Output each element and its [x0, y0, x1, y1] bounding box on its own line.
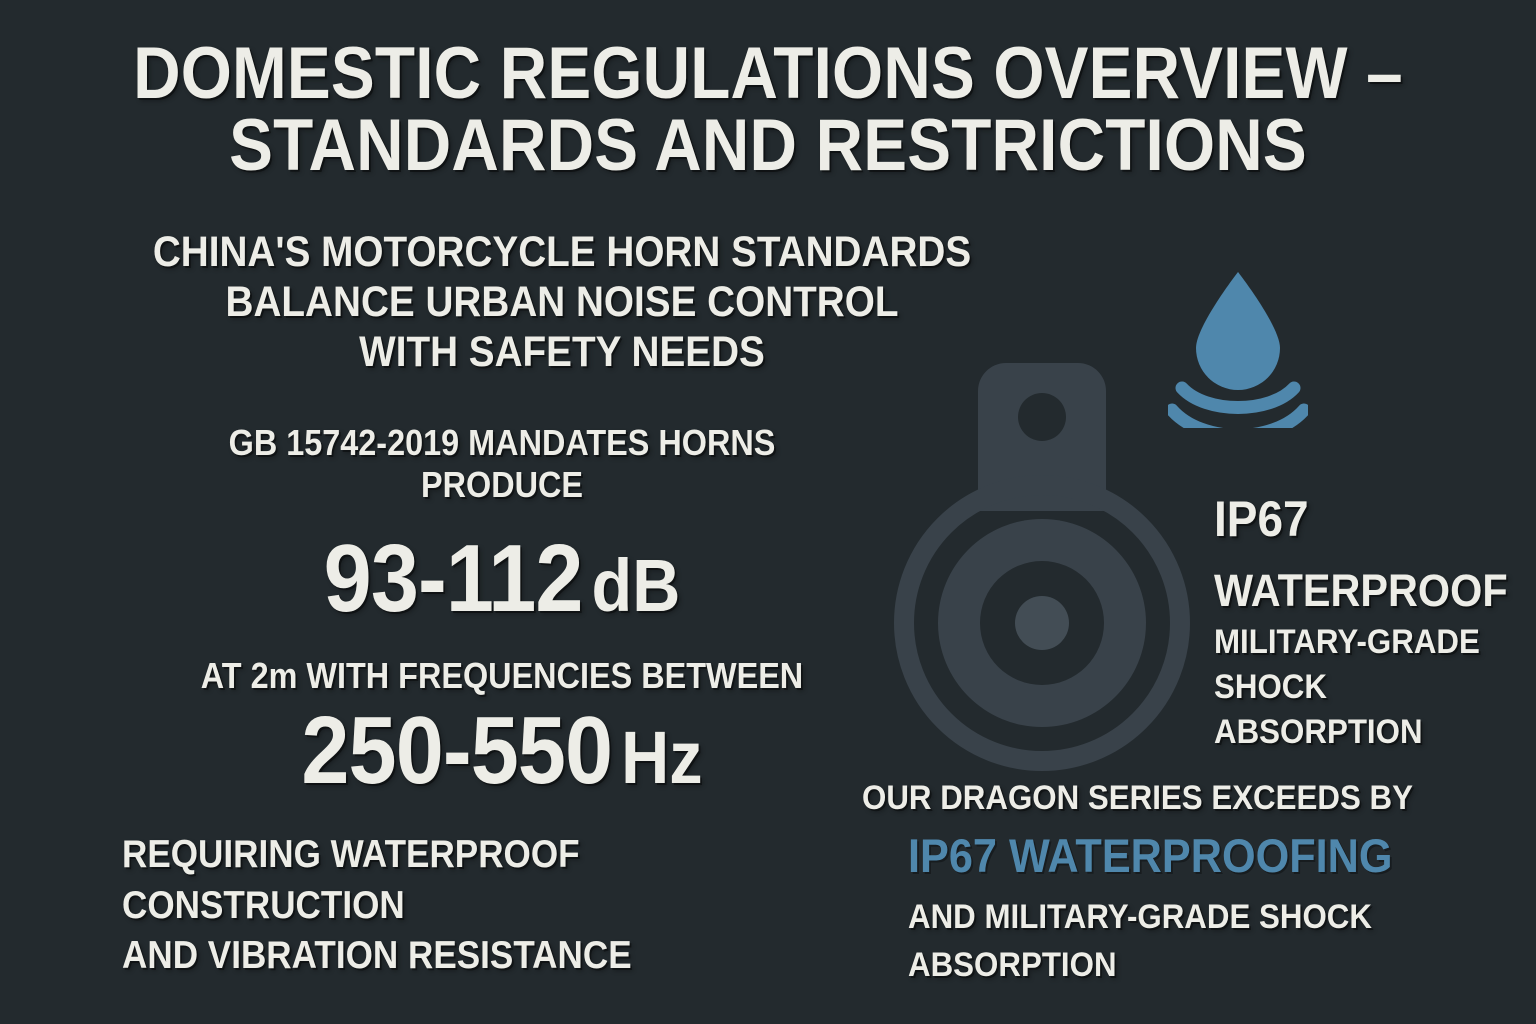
frequency-stat: 250-550Hz: [106, 703, 898, 799]
water-drop-ripple-icon: [1168, 268, 1308, 428]
infographic-canvas: DOMESTIC REGULATIONS OVERVIEW – STANDARD…: [0, 0, 1536, 1024]
page-title: DOMESTIC REGULATIONS OVERVIEW – STANDARD…: [77, 38, 1459, 183]
sound-level-value: 93-112: [324, 525, 583, 632]
shock-rating-text: MILITARY-GRADE SHOCK ABSORPTION: [1214, 620, 1518, 756]
product-claim-intro: OUR DRAGON SERIES EXCEEDS BY: [862, 778, 1451, 819]
measurement-condition: AT 2m WITH FREQUENCIES BETWEEN: [106, 655, 898, 696]
lead-statement: CHINA'S MOTORCYCLE HORN STANDARDS BALANC…: [112, 228, 1012, 378]
ip-rating-block: IP67 WATERPROOF: [1214, 478, 1508, 630]
motorcycle-horn-watermark: [878, 345, 1218, 775]
horn-icon: [878, 345, 1218, 775]
ip-rating-label: WATERPROOF: [1214, 568, 1508, 614]
frequency-value: 250-550: [301, 697, 612, 804]
sound-level-unit: dB: [592, 544, 681, 627]
product-claim-highlight: IP67 WATERPROOFING: [908, 830, 1478, 882]
product-claim-tail: AND MILITARY-GRADE SHOCK ABSORPTION: [908, 893, 1423, 990]
waterproof-drop-icon: [1168, 268, 1308, 428]
frequency-unit: Hz: [621, 716, 702, 799]
sound-level-stat: 93-112dB: [106, 531, 898, 627]
ip-rating-code: IP67: [1214, 494, 1508, 545]
regulation-intro: GB 15742-2019 MANDATES HORNS PRODUCE: [106, 422, 898, 506]
requirements-text: REQUIRING WATERPROOF CONSTRUCTION AND VI…: [122, 830, 833, 982]
